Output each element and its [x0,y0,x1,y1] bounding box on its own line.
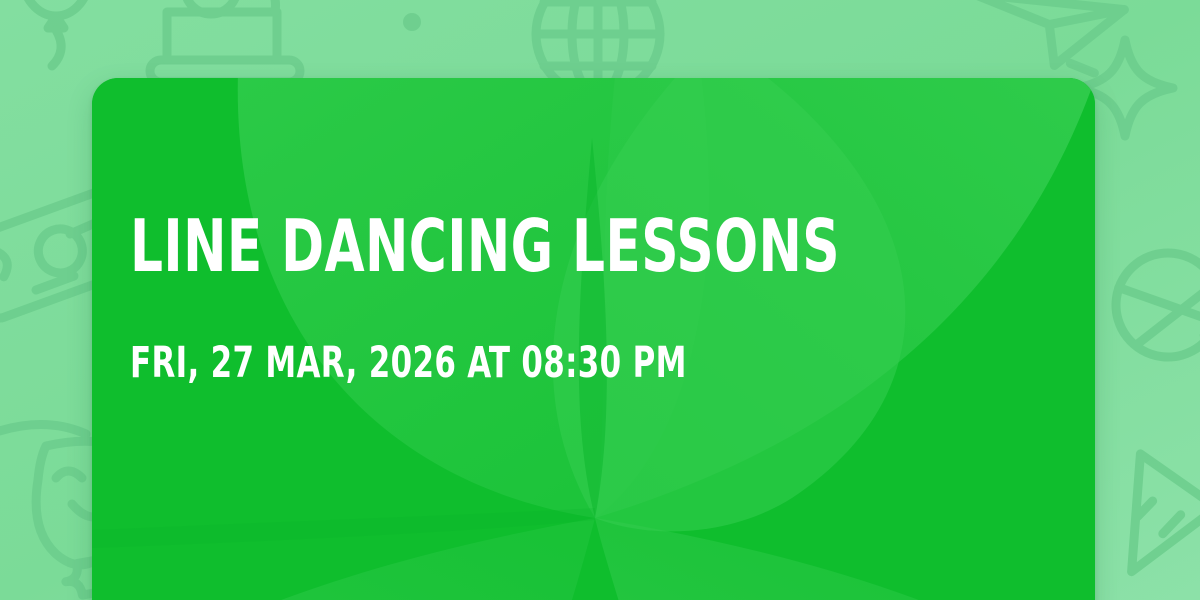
event-date: FRI, 27 MAR, 2026 AT 08:30 PM [130,342,687,385]
star-icon [403,13,421,31]
card-text-block: LINE DANCING LESSONS FRI, 27 MAR, 2026 A… [92,78,1095,600]
event-card-canvas: LINE DANCING LESSONS FRI, 27 MAR, 2026 A… [0,0,1200,600]
event-card[interactable]: LINE DANCING LESSONS FRI, 27 MAR, 2026 A… [92,78,1095,600]
event-title: LINE DANCING LESSONS [130,210,840,282]
